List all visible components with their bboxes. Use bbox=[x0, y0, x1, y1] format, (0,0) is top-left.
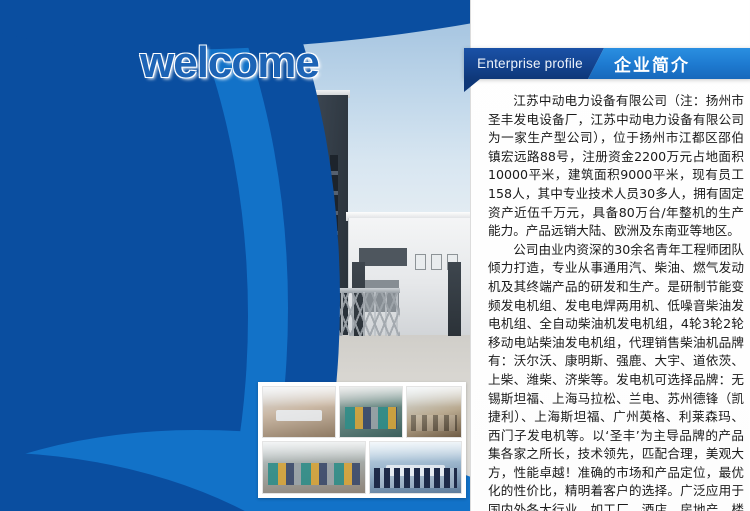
profile-body-text: 江苏中动电力设备有限公司（注：扬州市圣丰发电设备厂，江苏中动电力设备有限公司为一… bbox=[488, 92, 744, 492]
gate-post-right bbox=[448, 262, 461, 336]
section-header-banner: Enterprise profile 企业简介 bbox=[464, 48, 750, 79]
profile-content-area: Enterprise profile 企业简介 江苏中动电力设备有限公司（注：扬… bbox=[474, 0, 749, 511]
generator-workshop-photo bbox=[339, 386, 403, 438]
office-area-photo bbox=[406, 386, 462, 438]
enterprise-profile-panel: Enterprise profile 企业简介 江苏中动电力设备有限公司（注：扬… bbox=[470, 0, 750, 511]
photo-collage bbox=[258, 382, 466, 498]
assembly-line-photo bbox=[262, 441, 366, 494]
company-profile-slide: 中动电力 江苏中动电力设备有限公司 Zhongdong Power Equipm… bbox=[0, 0, 750, 511]
collage-row-top bbox=[262, 386, 462, 438]
banner-chinese-label: 企业简介 bbox=[588, 48, 750, 79]
left-visual-panel: 中动电力 江苏中动电力设备有限公司 Zhongdong Power Equipm… bbox=[0, 0, 470, 511]
banner-notch-decoration bbox=[464, 79, 480, 92]
banner-english-label: Enterprise profile bbox=[464, 48, 604, 79]
profile-paragraph-1: 江苏中动电力设备有限公司（注：扬州市圣丰发电设备厂，江苏中动电力设备有限公司为一… bbox=[488, 92, 744, 241]
meeting-room-photo bbox=[262, 386, 336, 438]
collage-row-bottom bbox=[262, 441, 462, 494]
conference-hall-photo bbox=[369, 441, 462, 494]
profile-paragraph-2: 公司由业内资深的30余名青年工程师团队倾力打造，专业从事通用汽、柴油、燃气发动机… bbox=[488, 241, 744, 511]
page-title: welcome bbox=[140, 38, 319, 88]
